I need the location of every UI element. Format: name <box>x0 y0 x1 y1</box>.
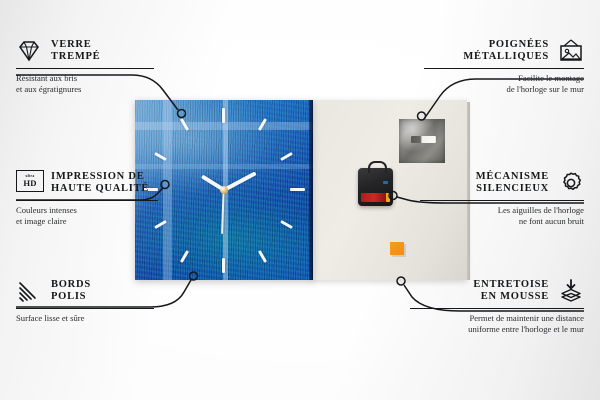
callout-subtitle: Les aiguilles de l'horloge ne font aucun… <box>408 205 584 226</box>
callout-subtitle: Permet de maintenir une distance uniform… <box>398 313 584 334</box>
callout-header: MÉCANISME SILENCIEUX <box>408 170 584 196</box>
polished-edge-icon <box>16 278 42 304</box>
callout-header: POIGNÉES MÉTALLIQUES <box>412 38 584 64</box>
callout-title: VERRE TREMPÉ <box>51 39 100 64</box>
callout-subtitle: Surface lisse et sûre <box>16 313 166 324</box>
spacer-arrow-icon <box>558 278 584 304</box>
callout-divider <box>420 200 584 201</box>
callout-subtitle: Résistant aux bris et aux égratignures <box>16 73 166 94</box>
callout-header: VERRE TREMPÉ <box>16 38 166 64</box>
clock-movement <box>358 168 393 206</box>
picture-hanger-icon <box>558 38 584 64</box>
callout-title: POIGNÉES MÉTALLIQUES <box>463 39 549 64</box>
callout-verre-trempe: VERRE TREMPÉ Résistant aux bris et aux é… <box>16 38 166 95</box>
clock-edge <box>309 100 313 280</box>
callout-subtitle: Facilite le montage de l'horloge sur le … <box>412 73 584 94</box>
callout-mecanisme-silencieux: MÉCANISME SILENCIEUX Les aiguilles de l'… <box>408 170 584 227</box>
callout-divider <box>410 308 584 309</box>
movement-hanging-loop <box>368 161 387 173</box>
callout-impression-haute-qualite: ultra HD IMPRESSION DE HAUTE QUALITÉ Cou… <box>16 170 176 227</box>
callout-header: ultra HD IMPRESSION DE HAUTE QUALITÉ <box>16 170 176 196</box>
callout-title: BORDS POLIS <box>51 279 91 304</box>
callout-header: ENTRETOISE EN MOUSSE <box>398 278 584 304</box>
callout-subtitle: Couleurs intenses et image claire <box>16 205 176 226</box>
callout-divider <box>16 200 158 201</box>
infographic-canvas: VERRE TREMPÉ Résistant aux bris et aux é… <box>0 0 600 400</box>
callout-poignees-metalliques: POIGNÉES MÉTALLIQUES Facilite le montage… <box>412 38 584 95</box>
callout-title: ENTRETOISE EN MOUSSE <box>473 279 549 304</box>
callout-divider <box>16 308 154 309</box>
hanger-slot <box>411 136 436 143</box>
callout-entretoise-en-mousse: ENTRETOISE EN MOUSSE Permet de maintenir… <box>398 278 584 335</box>
callout-bords-polis: BORDS POLIS Surface lisse et sûre <box>16 278 166 324</box>
diamond-icon <box>16 38 42 64</box>
movement-detail <box>383 181 388 184</box>
battery <box>361 193 390 202</box>
callout-title: IMPRESSION DE HAUTE QUALITÉ <box>51 171 149 196</box>
ultra-hd-icon: ultra HD <box>16 170 42 196</box>
callout-title: MÉCANISME SILENCIEUX <box>476 171 549 196</box>
callout-divider <box>424 68 584 69</box>
foam-spacer <box>390 242 404 255</box>
callout-divider <box>16 68 154 69</box>
callout-header: BORDS POLIS <box>16 278 166 304</box>
metal-hanger <box>399 119 445 163</box>
gear-icon <box>558 170 584 196</box>
